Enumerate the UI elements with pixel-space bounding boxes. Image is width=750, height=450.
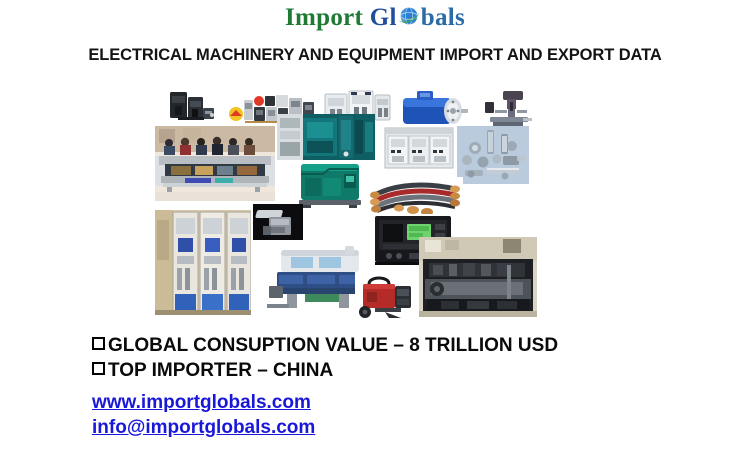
brand-word-import: Import <box>285 4 363 31</box>
black-device-image <box>253 204 303 240</box>
globe-icon <box>397 4 421 35</box>
bullet-text: TOP IMPORTER – CHINA <box>108 360 333 381</box>
copper-cables-image <box>367 177 463 219</box>
brand-word-bals: bals <box>421 4 465 31</box>
website-link[interactable]: www.importglobals.com <box>92 390 315 415</box>
machinery-collage <box>155 82 580 317</box>
bullet-text: GLOBAL CONSUPTION VALUE – 8 TRILLION USD <box>108 335 558 356</box>
pumps-valves-image <box>457 126 529 184</box>
teal-machinery-image <box>277 114 375 160</box>
electrical-cabinets-image <box>155 210 251 315</box>
green-generator-image <box>297 160 367 208</box>
bullet-item-consumption: GLOBAL CONSUPTION VALUE – 8 TRILLION USD <box>92 333 712 358</box>
circuit-breakers-image <box>165 88 225 128</box>
control-panel-image <box>383 124 455 172</box>
hollow-square-bullet-icon <box>92 337 105 350</box>
bullet-list: GLOBAL CONSUPTION VALUE – 8 TRILLION USD… <box>92 333 712 383</box>
brand-logo: Import Gl bals <box>0 4 750 35</box>
page-title: ELECTRICAL MACHINERY AND EQUIPMENT IMPOR… <box>0 46 750 65</box>
hollow-square-bullet-icon <box>92 362 105 375</box>
red-welder-image <box>355 272 417 320</box>
industrial-printer-image <box>155 126 275 201</box>
slide-canvas: Import Gl bals ELECTRICAL MACHINERY AND … <box>0 0 750 450</box>
printing-press-image <box>419 237 537 317</box>
bullet-item-top-importer: TOP IMPORTER – CHINA <box>92 358 712 383</box>
brand-word-gl: Gl <box>370 4 397 31</box>
contact-links: www.importglobals.com info@importglobals… <box>92 390 315 440</box>
email-link[interactable]: info@importglobals.com <box>92 415 315 440</box>
